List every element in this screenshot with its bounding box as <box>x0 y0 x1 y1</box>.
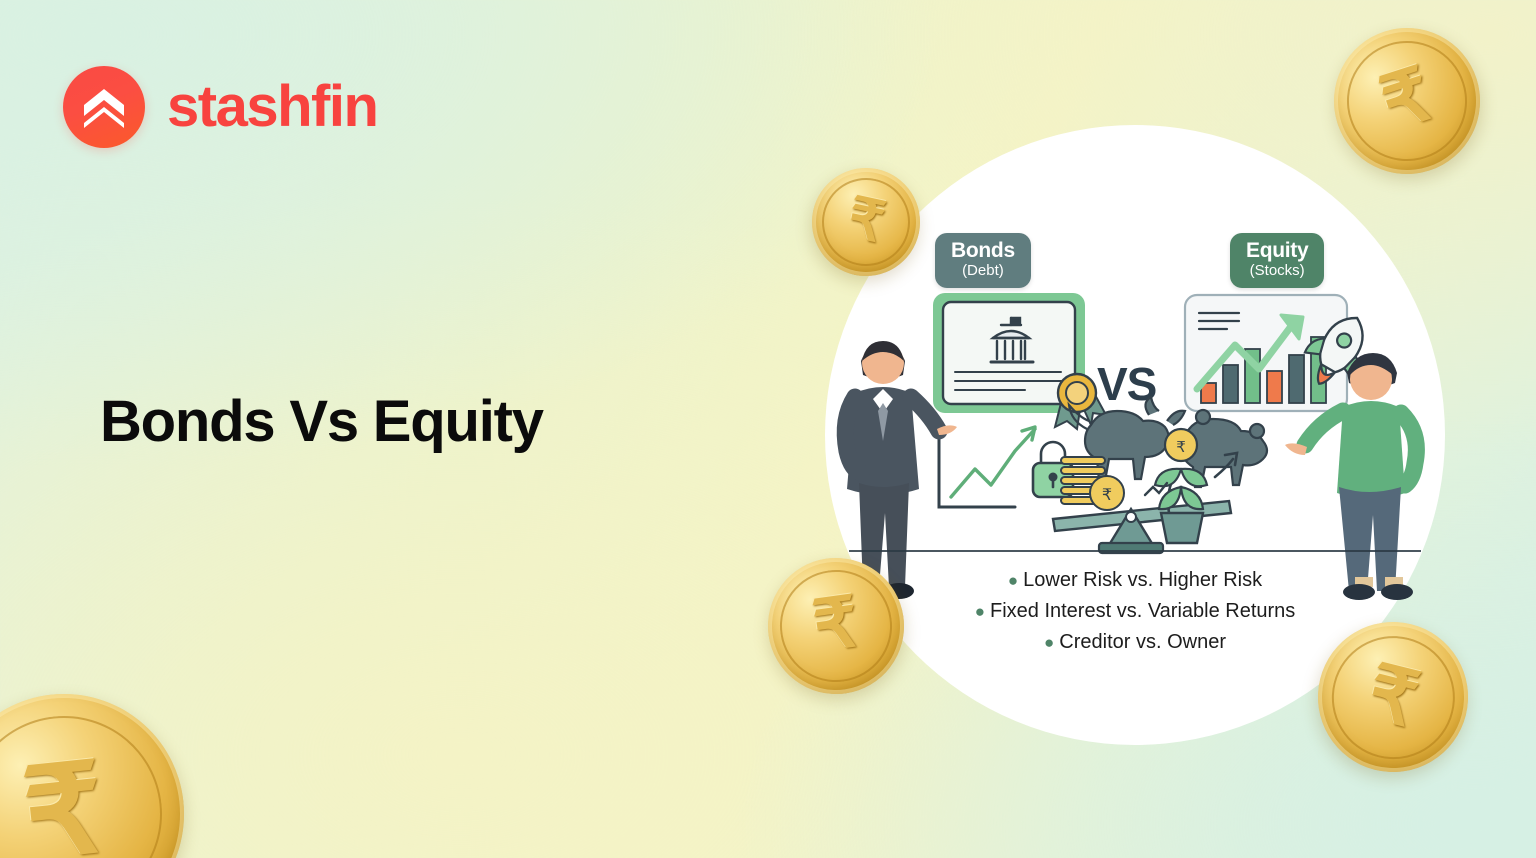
svg-text:₹: ₹ <box>1102 487 1112 504</box>
bullet-text: Creditor vs. Owner <box>1059 631 1226 653</box>
list-item: ●Fixed Interest vs. Variable Returns <box>825 596 1445 627</box>
svg-text:₹: ₹ <box>1176 439 1186 456</box>
line-chart-up-icon-line <box>951 427 1035 497</box>
brand-logo[interactable]: stashfin <box>63 66 377 148</box>
bullet-dot-icon: ● <box>1044 633 1054 652</box>
bullet-text: Lower Risk vs. Higher Risk <box>1023 569 1262 591</box>
page-title: Bonds Vs Equity <box>100 388 543 455</box>
bullet-text: Fixed Interest vs. Variable Returns <box>990 600 1295 622</box>
ground-line <box>849 550 1421 552</box>
seesaw-balance-icon <box>1053 501 1231 553</box>
bullet-dot-icon: ● <box>975 602 985 621</box>
chevron-stack-icon <box>63 66 145 148</box>
list-item: ●Lower Risk vs. Higher Risk <box>825 565 1445 596</box>
coin-stack-icon: ₹ <box>1061 457 1124 510</box>
rupee-coin-icon: ₹ <box>0 682 196 858</box>
bullet-dot-icon: ● <box>1008 571 1018 590</box>
brand-name: stashfin <box>167 78 377 136</box>
